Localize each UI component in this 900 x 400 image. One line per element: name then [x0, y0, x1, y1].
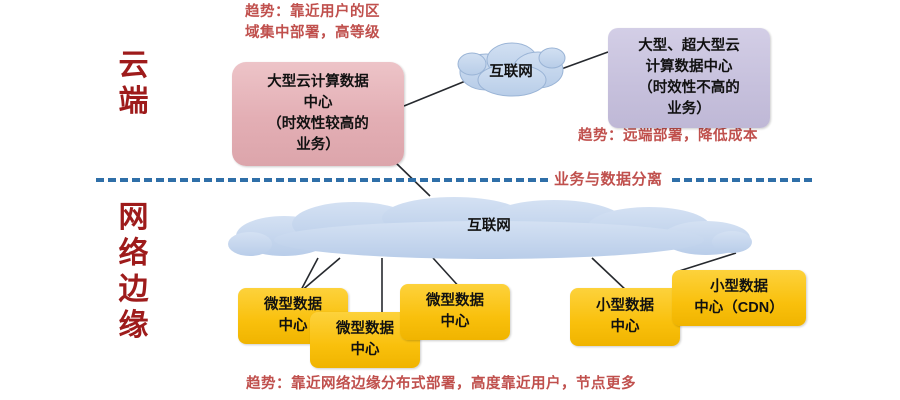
- trend-annotation-right: 趋势：远端部署，降低成本: [578, 126, 878, 147]
- trend-annotation-top-left: 趋势：靠近用户的区 域集中部署，高等级: [245, 2, 465, 44]
- divider-dashed-line: [96, 178, 812, 182]
- trend-annotation-bottom: 趋势：靠近网络边缘分布式部署，高度靠近用户，节点更多: [246, 374, 846, 395]
- cloud-internet-bottom-label: 互联网: [224, 214, 754, 235]
- node-micro-dc-3[interactable]: 微型数据 中心: [400, 284, 510, 340]
- layer-label-cloud: 云端: [104, 48, 164, 120]
- diagram-canvas: 云端 网络边缘 趋势：靠近用户的区 域集中部署，高等级 趋势：远端部署，降低成本…: [0, 0, 900, 400]
- node-small-dc[interactable]: 小型数据 中心: [570, 288, 680, 346]
- cloud-internet-bottom: 互联网: [224, 196, 754, 262]
- node-small-dc-cdn[interactable]: 小型数据 中心（CDN）: [672, 270, 806, 326]
- divider-label-wrap: 业务与数据分离: [548, 168, 669, 189]
- cloud-internet-top: 互联网: [452, 36, 570, 100]
- link-bottom-cloud-to-micro-dc-1: [300, 258, 340, 292]
- cloud-internet-top-label: 互联网: [452, 60, 570, 81]
- node-large-cloud-dc[interactable]: 大型云计算数据 中心 （时效性较高的 业务）: [232, 62, 404, 166]
- link-bottom-cloud-to-small-dc: [592, 258, 628, 292]
- divider-label: 业务与数据分离: [548, 171, 669, 188]
- layer-label-edge: 网络边缘: [104, 200, 164, 344]
- node-mega-cloud-dc[interactable]: 大型、超大型云 计算数据中心 （时效性不高的 业务）: [608, 28, 770, 128]
- link-bottom-cloud-to-micro-dc-1b: [300, 258, 318, 292]
